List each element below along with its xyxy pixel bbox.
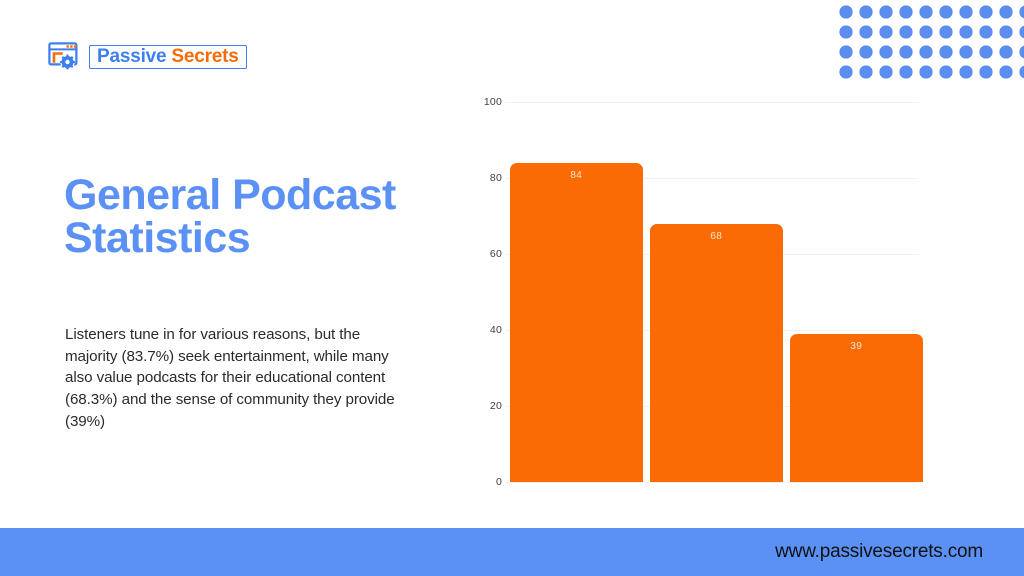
- dot-grid-decoration: [836, 2, 1024, 84]
- bar-value-label: 39: [790, 341, 923, 352]
- y-axis-tick-label: 0: [474, 476, 502, 488]
- bar-item[interactable]: 68: [650, 224, 783, 482]
- footer-bar: www.passivesecrets.com: [0, 528, 1024, 576]
- brand-logo[interactable]: Passive Secrets: [48, 40, 247, 74]
- chart-plot-area: 84 68 39: [505, 102, 918, 482]
- logo-word-passive: Passive: [97, 47, 166, 66]
- footer-website-url[interactable]: www.passivesecrets.com: [775, 541, 983, 563]
- browser-window-gear-icon: [48, 42, 82, 72]
- bar-item[interactable]: 39: [790, 334, 923, 482]
- logo-word-secrets: Secrets: [171, 47, 238, 66]
- y-axis-tick-label: 80: [474, 172, 502, 184]
- y-axis-tick-label: 100: [474, 96, 502, 108]
- slide-canvas: Passive Secrets General Podcast Statisti…: [0, 0, 1024, 576]
- y-axis-tick-labels: 100 80 60 40 20 0: [472, 102, 502, 482]
- y-axis-tick-label: 40: [474, 324, 502, 336]
- bar-item[interactable]: 84: [510, 163, 643, 482]
- bar-series: 84 68 39: [505, 102, 918, 482]
- y-axis-tick-label: 20: [474, 400, 502, 412]
- page-title: General Podcast Statistics: [64, 174, 464, 260]
- gridline: [505, 482, 918, 483]
- logo-wordmark: Passive Secrets: [89, 45, 247, 69]
- bar-value-label: 84: [510, 170, 643, 181]
- body-paragraph: Listeners tune in for various reasons, b…: [65, 324, 395, 432]
- bar-value-label: 68: [650, 231, 783, 242]
- bar-chart: 100 80 60 40 20 0 84 68 39: [472, 92, 924, 500]
- y-axis-tick-label: 60: [474, 248, 502, 260]
